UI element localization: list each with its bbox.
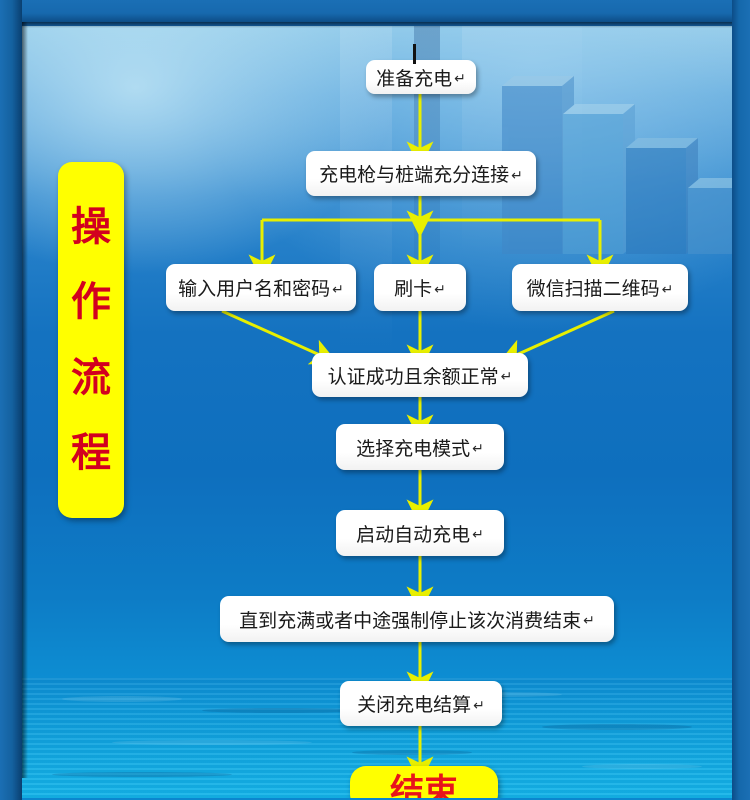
paragraph-mark-icon: ↵: [511, 168, 523, 184]
frame-edge-left: [0, 0, 22, 800]
paragraph-mark-icon: ↵: [583, 613, 595, 629]
paragraph-mark-icon: ↵: [662, 282, 674, 298]
node-settle[interactable]: 关闭充电结算 ↵: [340, 681, 502, 726]
node-charging[interactable]: 直到充满或者中途强制停止该次消费结束 ↵: [220, 596, 614, 642]
node-select-mode-label: 选择充电模式: [356, 434, 470, 461]
node-start-charge-label: 启动自动充电: [356, 520, 470, 547]
node-connect-label: 充电枪与桩端充分连接: [319, 160, 509, 187]
paragraph-mark-icon: ↵: [501, 369, 513, 385]
paragraph-mark-icon: ↵: [472, 441, 484, 457]
node-auth-card[interactable]: 刷卡 ↵: [374, 264, 466, 311]
text-cursor-artifact: [413, 44, 416, 64]
arrow-password-to-auth: [222, 311, 322, 356]
node-end[interactable]: 结束: [350, 766, 498, 798]
node-auth-wechat-label: 微信扫描二维码: [527, 274, 660, 301]
node-charging-label: 直到充满或者中途强制停止该次消费结束: [239, 606, 581, 633]
flowchart-image: 操 作 流 程: [0, 0, 750, 800]
flowchart-canvas: 操 作 流 程: [22, 26, 732, 798]
node-settle-label: 关闭充电结算: [357, 690, 471, 717]
node-auth-ok-label: 认证成功且余额正常: [328, 362, 499, 389]
node-select-mode[interactable]: 选择充电模式 ↵: [336, 424, 504, 470]
node-auth-password-label: 输入用户名和密码: [178, 274, 330, 301]
paragraph-mark-icon: ↵: [472, 527, 484, 543]
frame-edge-right: [732, 0, 750, 800]
paragraph-mark-icon: ↵: [434, 282, 446, 298]
node-prepare-label: 准备充电: [376, 64, 452, 91]
node-auth-ok[interactable]: 认证成功且余额正常 ↵: [312, 353, 528, 397]
node-auth-card-label: 刷卡: [394, 274, 432, 301]
arrow-wechat-to-auth: [514, 311, 614, 356]
node-auth-password[interactable]: 输入用户名和密码 ↵: [166, 264, 356, 311]
node-prepare[interactable]: 准备充电 ↵: [366, 60, 476, 94]
paragraph-mark-icon: ↵: [454, 71, 466, 87]
node-auth-wechat[interactable]: 微信扫描二维码 ↵: [512, 264, 688, 311]
node-connect[interactable]: 充电枪与桩端充分连接 ↵: [306, 151, 536, 196]
frame-edge-top: [0, 0, 750, 22]
paragraph-mark-icon: ↵: [473, 698, 485, 714]
node-end-label: 结束: [390, 764, 458, 799]
node-start-charge[interactable]: 启动自动充电 ↵: [336, 510, 504, 556]
paragraph-mark-icon: ↵: [332, 282, 344, 298]
